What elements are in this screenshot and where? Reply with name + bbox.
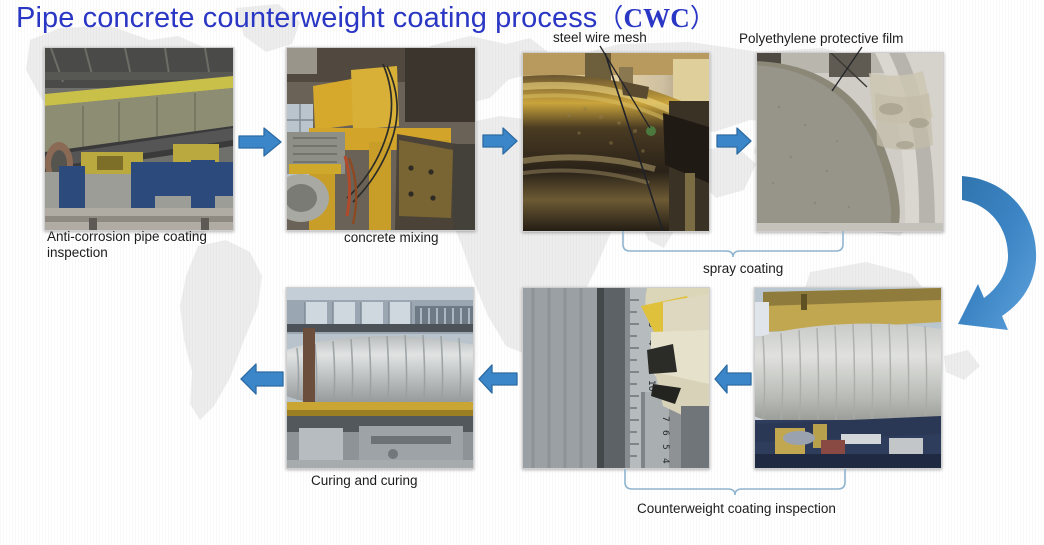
bracket-counterweight-inspection	[624, 468, 846, 496]
flow-arrow-curved-right	[944, 168, 1044, 346]
page-title-text: Pipe concrete counterweight coating proc…	[16, 2, 597, 34]
group-label-spray-coating-text: spray coating	[703, 261, 783, 276]
annotation-steel-wire-mesh: steel wire mesh	[553, 30, 647, 45]
svg-text:7: 7	[660, 416, 670, 422]
svg-text:6: 6	[660, 430, 670, 436]
slide-canvas: Pipe concrete counterweight coating proc…	[0, 0, 1044, 545]
flow-arrow-5	[714, 363, 752, 395]
group-label-counterweight-inspection: Counterweight coating inspection	[637, 501, 836, 516]
caption-step-7: Curing and curing	[311, 473, 511, 489]
flow-arrow-3	[716, 126, 752, 156]
group-label-counterweight-inspection-text: Counterweight coating inspection	[637, 501, 836, 516]
svg-text:4: 4	[660, 458, 670, 464]
photo-counterweight-coated-pipe	[754, 287, 942, 469]
annotation-steel-wire-mesh-text: steel wire mesh	[553, 30, 647, 45]
caption-step-1-text: Anti-corrosion pipe coating inspection	[47, 229, 207, 260]
flow-arrow-7	[240, 362, 284, 396]
photo-curing	[286, 287, 474, 469]
photo-thickness-measurement: 6 5 4 2 101 9 8 7 6 5 8 7 6 5 4	[522, 287, 710, 469]
bracket-spray-coating	[622, 230, 844, 258]
caption-step-2-text: concrete mixing	[344, 230, 439, 245]
annotation-pe-film: Polyethylene protective film	[739, 31, 903, 46]
svg-text:5: 5	[660, 444, 670, 450]
flow-arrow-1	[238, 126, 282, 158]
flow-arrow-2	[482, 126, 518, 156]
caption-step-7-text: Curing and curing	[311, 473, 418, 488]
photo-anti-corrosion-pipe-coating	[44, 47, 234, 231]
title-abbreviation: CWC	[624, 3, 690, 33]
title-paren-close: ）	[690, 3, 716, 33]
photo-concrete-mixing	[286, 47, 476, 231]
leader-line-steel-wire-mesh	[598, 44, 658, 130]
leader-line-pe-film	[828, 45, 864, 93]
flow-arrow-6	[478, 363, 518, 395]
caption-step-1: Anti-corrosion pipe coating inspection	[47, 229, 243, 260]
title-paren-open: （	[597, 3, 623, 33]
annotation-pe-film-text: Polyethylene protective film	[739, 31, 903, 46]
caption-step-2: concrete mixing	[344, 230, 524, 246]
group-label-spray-coating: spray coating	[703, 261, 783, 276]
